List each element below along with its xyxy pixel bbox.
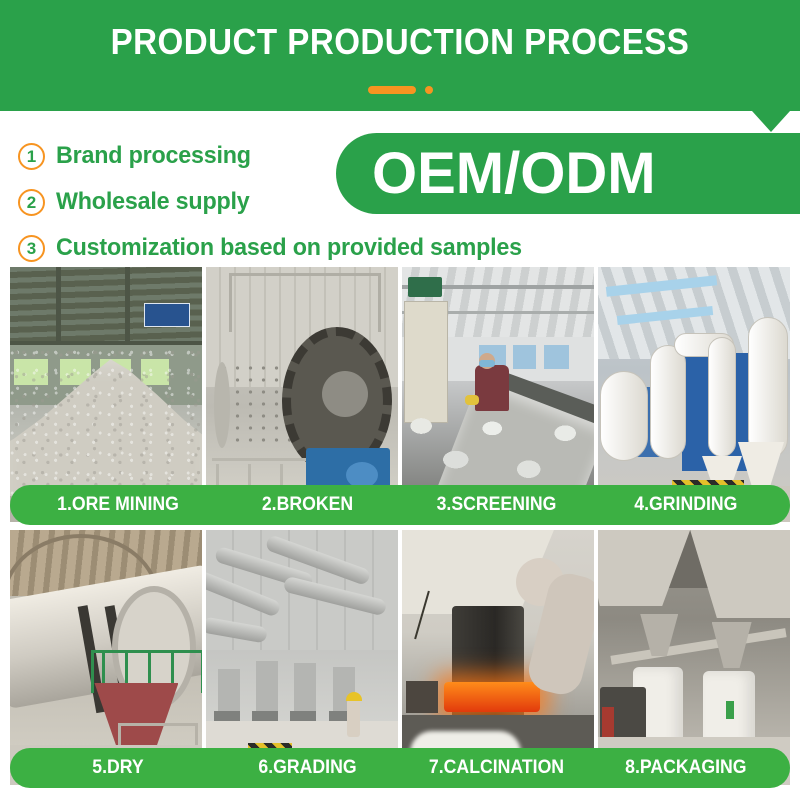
ore-pile-in-warehouse-photo xyxy=(10,267,202,522)
circled-number-icon: 2 xyxy=(18,189,45,216)
process-step-cell xyxy=(402,267,594,522)
process-step-label: 8.PACKAGING xyxy=(598,757,783,779)
process-step-label: 5.DRY xyxy=(17,757,206,779)
process-step-label: 6.GRADING xyxy=(220,757,396,779)
circled-number-icon: 3 xyxy=(18,235,45,262)
circled-number-icon: 1 xyxy=(18,143,45,170)
process-step-cell xyxy=(598,530,790,785)
divider-bar-icon xyxy=(368,86,416,94)
process-step-cell xyxy=(10,530,202,785)
process-step-cell xyxy=(598,267,790,522)
process-step-cell xyxy=(206,530,398,785)
header-divider xyxy=(0,84,800,96)
process-photo-strip xyxy=(10,267,790,522)
process-label-bar: 1.ORE MINING 2.BROKEN 3.SCREENING 4.GRIN… xyxy=(10,485,790,525)
list-item-label: Brand processing xyxy=(56,142,251,170)
conveyor-screening-worker-photo xyxy=(402,267,594,522)
process-row-1: 1.ORE MINING 2.BROKEN 3.SCREENING 4.GRIN… xyxy=(10,267,790,522)
glowing-calcination-kiln-photo xyxy=(402,530,594,785)
divider-dot-icon xyxy=(425,86,433,94)
process-photo-strip xyxy=(10,530,790,785)
service-bullet-list: 1 Brand processing 2 Wholesale supply 3 … xyxy=(18,133,638,271)
list-item: 2 Wholesale supply xyxy=(18,179,638,225)
product-production-process-banner: PRODUCT PRODUCTION PROCESS OEM/ODM 1 Bra… xyxy=(0,0,800,800)
process-label-bar: 5.DRY 6.GRADING 7.CALCINATION 8.PACKAGIN… xyxy=(10,748,790,788)
process-step-label: 7.CALCINATION xyxy=(409,757,585,779)
list-item-label: Customization based on provided samples xyxy=(56,234,522,262)
raymond-grinding-mill-photo xyxy=(598,267,790,522)
header-notch-triangle-icon xyxy=(752,111,790,132)
rotary-dryer-kiln-photo xyxy=(10,530,202,785)
process-step-cell xyxy=(10,267,202,522)
page-title: PRODUCT PRODUCTION PROCESS xyxy=(32,21,768,63)
process-step-cell xyxy=(402,530,594,785)
process-step-label: 2.BROKEN xyxy=(220,494,396,516)
list-item: 3 Customization based on provided sample… xyxy=(18,225,638,271)
process-step-label: 3.SCREENING xyxy=(409,494,585,516)
ball-mill-crusher-photo xyxy=(206,267,398,522)
process-step-cell xyxy=(206,267,398,522)
list-item: 1 Brand processing xyxy=(18,133,638,179)
process-row-2: 5.DRY 6.GRADING 7.CALCINATION 8.PACKAGIN… xyxy=(10,530,790,785)
process-step-label: 1.ORE MINING xyxy=(17,494,206,516)
process-step-label: 4.GRINDING xyxy=(598,494,783,516)
list-item-label: Wholesale supply xyxy=(56,188,250,216)
page-header: PRODUCT PRODUCTION PROCESS xyxy=(0,0,800,111)
air-classifier-ducts-photo xyxy=(206,530,398,785)
bulk-bag-packaging-photo xyxy=(598,530,790,785)
